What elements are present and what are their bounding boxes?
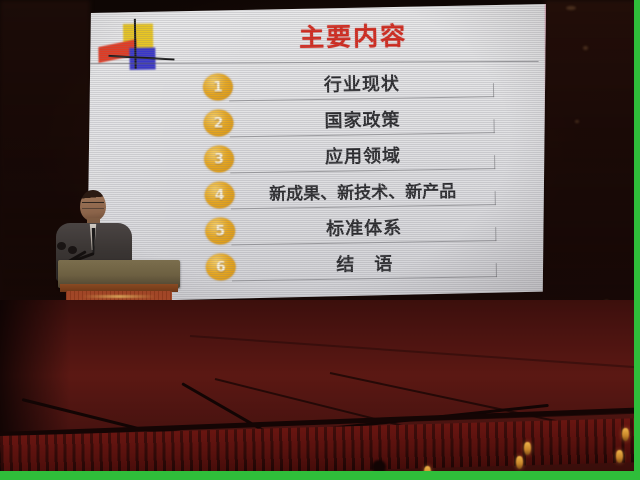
projection-screen: 主要内容 1 行业现状 2 国家政策 bbox=[84, 4, 546, 302]
stage-lamp-icon bbox=[616, 450, 623, 463]
podium-gold-topline bbox=[82, 295, 156, 298]
ceiling-light-speck bbox=[575, 120, 579, 123]
stage-lamp-icon bbox=[524, 442, 531, 455]
agenda-bullet-number: 2 bbox=[203, 109, 233, 136]
agenda-bullet-number: 1 bbox=[203, 73, 233, 100]
agenda-bullet-6: 6 bbox=[206, 253, 236, 280]
agenda-label-2: 国家政策 bbox=[233, 104, 491, 134]
slide-agenda-list: 1 行业现状 2 国家政策 3 bbox=[83, 64, 548, 287]
agenda-bullet-number: 5 bbox=[205, 217, 235, 244]
ceiling-light-speck bbox=[566, 6, 576, 10]
agenda-label-4: 新成果、新技术、新产品 bbox=[212, 176, 512, 206]
agenda-rule-tick bbox=[493, 83, 494, 97]
microphone-left-head-icon bbox=[57, 242, 66, 250]
agenda-bullet-3: 3 bbox=[204, 145, 234, 172]
agenda-rule bbox=[231, 204, 496, 209]
conference-photo-scene: 主要内容 1 行业现状 2 国家政策 bbox=[0, 0, 640, 480]
agenda-rule-tick bbox=[495, 191, 496, 205]
glasses-icon bbox=[82, 202, 104, 209]
agenda-label-6: 结 语 bbox=[236, 248, 494, 278]
agenda-label-1: 行业现状 bbox=[233, 68, 491, 98]
agenda-rule-tick bbox=[496, 263, 497, 277]
agenda-rule-tick bbox=[493, 119, 494, 133]
microphone-right-head-icon bbox=[68, 246, 77, 254]
slide-title: 主要内容 bbox=[238, 16, 469, 56]
agenda-bullet-1: 1 bbox=[203, 73, 233, 100]
agenda-rule-tick bbox=[494, 155, 495, 169]
green-border-bottom bbox=[0, 471, 640, 480]
agenda-bullet-2: 2 bbox=[203, 109, 233, 136]
hall-wall-right bbox=[545, 0, 637, 300]
agenda-bullet-number: 3 bbox=[204, 145, 234, 172]
agenda-bullet-5: 5 bbox=[205, 217, 235, 244]
green-border-right bbox=[634, 0, 640, 480]
agenda-label-3: 应用领域 bbox=[234, 140, 492, 170]
agenda-rule-tick bbox=[495, 227, 496, 241]
stage-lamp-icon bbox=[622, 428, 629, 441]
stage-lamp-icon bbox=[516, 456, 523, 469]
agenda-bullet-number: 6 bbox=[206, 253, 236, 280]
ceiling-light-speck bbox=[583, 46, 588, 50]
agenda-label-5: 标准体系 bbox=[235, 212, 493, 242]
